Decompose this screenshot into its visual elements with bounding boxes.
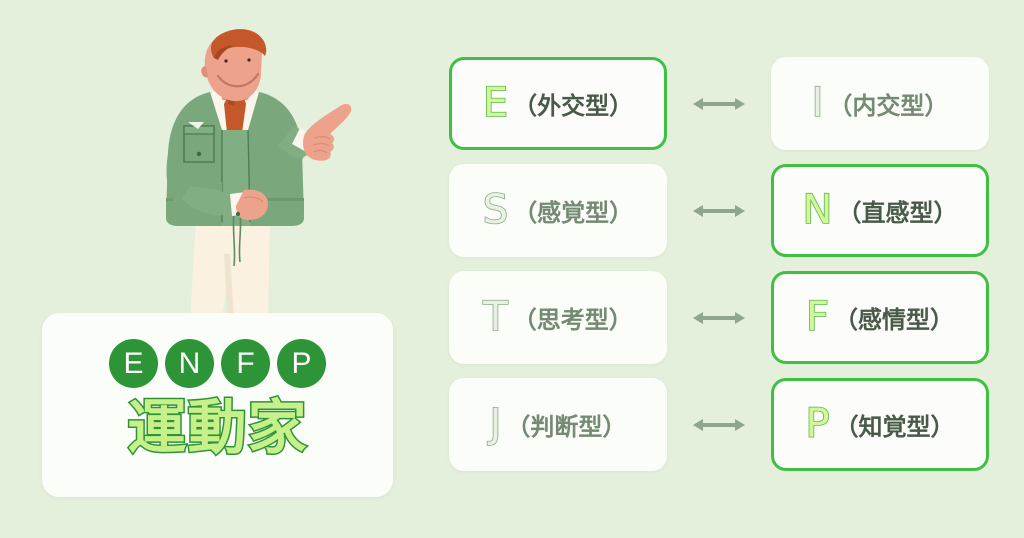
dichotomy-letter-s: S	[483, 190, 508, 230]
infographic-canvas: E N F P 運動家 E （外交型）	[0, 0, 1024, 538]
dichotomy-label-t: （思考型）	[513, 300, 633, 335]
double-arrow-icon	[691, 415, 747, 435]
dichotomy-card-content: N （直感型）	[803, 191, 958, 231]
dichotomy-card-s[interactable]: S （感覚型）	[449, 164, 667, 257]
dichotomy-letter-i: I	[812, 83, 824, 123]
man-pointing-illustration	[118, 22, 368, 322]
dichotomy-letter-n: N	[803, 190, 833, 230]
dichotomy-card-content: E （外交型）	[483, 84, 633, 124]
dichotomy-card-content: J （判断型）	[490, 405, 627, 445]
type-code-badges: E N F P	[42, 339, 393, 388]
left-panel: E N F P 運動家	[0, 0, 430, 538]
dichotomy-card-e[interactable]: E （外交型）	[449, 57, 667, 150]
dichotomy-letter-p: P	[805, 404, 829, 444]
arrow-cell-0	[667, 57, 771, 150]
dichotomy-label-n: （直感型）	[837, 193, 957, 228]
dichotomy-label-j: （判断型）	[506, 407, 626, 442]
dichotomy-row-3: J （判断型） P （知覚型）	[449, 378, 989, 471]
dichotomy-card-content: S （感覚型）	[483, 191, 633, 231]
dichotomy-card-content: I （内交型）	[812, 84, 949, 124]
dichotomy-label-i: （内交型）	[828, 86, 948, 121]
personality-type-name: 運動家	[42, 396, 393, 460]
double-arrow-icon	[691, 308, 747, 328]
personality-type-card: E N F P 運動家	[42, 313, 393, 497]
type-code-letter-2: F	[221, 339, 270, 388]
type-code-letter-1: N	[165, 339, 214, 388]
dichotomy-letter-t: T	[483, 297, 507, 337]
dichotomy-matrix: E （外交型） I （内交型）	[449, 57, 989, 467]
dichotomy-card-content: F （感情型）	[806, 298, 954, 338]
dichotomy-letter-f: F	[806, 297, 829, 337]
dichotomy-row-0: E （外交型） I （内交型）	[449, 57, 989, 150]
dichotomy-card-content: P （知覚型）	[805, 405, 954, 445]
dichotomy-card-i[interactable]: I （内交型）	[771, 57, 989, 150]
dichotomy-card-p[interactable]: P （知覚型）	[771, 378, 989, 471]
dichotomy-card-n[interactable]: N （直感型）	[771, 164, 989, 257]
dichotomy-label-s: （感覚型）	[513, 193, 633, 228]
dichotomy-label-e: （外交型）	[513, 86, 633, 121]
double-arrow-icon	[691, 94, 747, 114]
arrow-cell-3	[667, 378, 771, 471]
type-code-letter-0: E	[109, 339, 158, 388]
arrow-cell-2	[667, 271, 771, 364]
dichotomy-card-t[interactable]: T （思考型）	[449, 271, 667, 364]
dichotomy-row-1: S （感覚型） N （直感型）	[449, 164, 989, 257]
dichotomy-row-2: T （思考型） F （感情型）	[449, 271, 989, 364]
dichotomy-card-f[interactable]: F （感情型）	[771, 271, 989, 364]
dichotomy-label-f: （感情型）	[834, 300, 954, 335]
dichotomy-letter-j: J	[490, 404, 502, 444]
dichotomy-card-content: T （思考型）	[483, 298, 632, 338]
dichotomy-card-j[interactable]: J （判断型）	[449, 378, 667, 471]
arrow-cell-1	[667, 164, 771, 257]
type-code-letter-3: P	[277, 339, 326, 388]
double-arrow-icon	[691, 201, 747, 221]
dichotomy-label-p: （知覚型）	[835, 407, 955, 442]
dichotomy-letter-e: E	[483, 83, 508, 123]
